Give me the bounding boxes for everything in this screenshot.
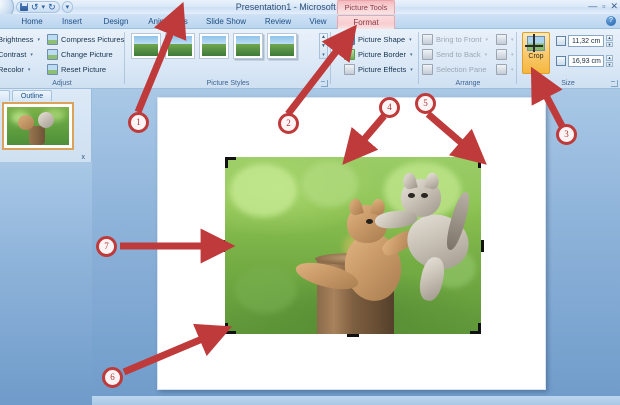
- picture-shape-button[interactable]: Picture Shape ▾: [344, 33, 412, 46]
- send-to-back-icon: [422, 49, 433, 60]
- scroll-up-icon[interactable]: ▲: [321, 34, 326, 40]
- chevron-down-icon: ▾: [37, 37, 40, 43]
- crop-icon: [527, 36, 545, 51]
- window-title: Presentation1 - Microsoft PowerPoint: [0, 0, 620, 14]
- panel-tabs: Outline: [0, 89, 92, 101]
- thumb-preview: [134, 36, 158, 56]
- group-divider: [516, 32, 517, 84]
- align-button[interactable]: ▾: [496, 33, 514, 46]
- stepper-down-icon[interactable]: ▼: [606, 42, 613, 48]
- slide-thumbnail[interactable]: [2, 102, 74, 150]
- chevron-down-icon: ▾: [409, 37, 412, 43]
- rotate-button[interactable]: ▾: [496, 63, 514, 76]
- tab-outline[interactable]: Outline: [12, 90, 52, 101]
- left-middle-crop-handle[interactable]: [222, 240, 225, 252]
- top-center-crop-handle[interactable]: [347, 154, 359, 157]
- maximize-button[interactable]: ▫: [602, 1, 605, 11]
- thumb-preview: [202, 36, 226, 56]
- height-value[interactable]: 11,32 cm: [568, 35, 604, 47]
- thumb-preview: [270, 36, 294, 56]
- picture-styles-dialog-launcher[interactable]: [321, 80, 328, 87]
- compress-pictures-icon: [47, 34, 58, 45]
- picture-style-menus: Picture Shape ▾ Picture Border ▾ Picture…: [344, 29, 418, 88]
- reset-picture-icon: [47, 64, 58, 75]
- picture-border-icon: [344, 49, 355, 60]
- picture-style-thumb[interactable]: [199, 33, 229, 59]
- height-icon: [556, 36, 566, 46]
- stepper-up-icon[interactable]: ▲: [606, 35, 613, 41]
- width-icon: [556, 56, 566, 66]
- window-controls: — ▫ ✕: [588, 1, 618, 11]
- group-divider: [418, 32, 419, 84]
- ribbon-group-adjust: Brightness ▾ Contrast ▾ Recolor ▾ Compre…: [0, 29, 124, 88]
- scroll-down-icon[interactable]: ▼: [321, 43, 326, 49]
- group-label-arrange: Arrange: [420, 80, 516, 87]
- contrast-button[interactable]: Contrast ▾: [0, 48, 33, 61]
- selection-pane-icon: [422, 64, 433, 75]
- picture-effects-icon: [344, 64, 355, 75]
- picture-tools-label: Picture Tools: [337, 0, 395, 14]
- picture-border-button[interactable]: Picture Border ▾: [344, 48, 412, 61]
- status-strip: [92, 396, 620, 405]
- picture-effects-button[interactable]: Picture Effects ▾: [344, 63, 413, 76]
- change-picture-button[interactable]: Change Picture: [47, 48, 113, 61]
- crop-button[interactable]: Crop: [522, 32, 550, 74]
- group-label-picture-styles: Picture Styles: [126, 80, 330, 87]
- change-picture-icon: [47, 49, 58, 60]
- ribbon-tabs: Home Insert Design Animations Slide Show…: [0, 14, 620, 29]
- group-button[interactable]: ▾: [496, 48, 514, 61]
- picture-style-thumb[interactable]: [131, 33, 161, 59]
- bring-to-front-icon: [422, 34, 433, 45]
- chevron-down-icon: ▾: [485, 52, 488, 58]
- gallery-more-icon[interactable]: ▾: [322, 52, 325, 58]
- workspace-left-fill: [0, 162, 92, 405]
- ribbon-group-picture-styles: ▲ ▼ ▾ Picture Styles: [126, 29, 330, 88]
- tab-review[interactable]: Review: [256, 15, 300, 29]
- close-button[interactable]: ✕: [610, 1, 618, 11]
- stepper-down-icon[interactable]: ▼: [606, 62, 613, 68]
- group-icon: [496, 49, 507, 60]
- group-label-size: Size: [538, 80, 598, 87]
- thumb-preview: [168, 36, 192, 56]
- size-dialog-launcher[interactable]: [611, 80, 618, 87]
- tab-slide-show[interactable]: Slide Show: [198, 15, 254, 29]
- tab-view[interactable]: View: [300, 15, 336, 29]
- chevron-down-icon: ▾: [30, 52, 33, 58]
- rotate-icon: [496, 64, 507, 75]
- powerpoint-window: ↺ ▾ ↻ ▾ Presentation1 - Microsoft PowerP…: [0, 0, 620, 405]
- group-label-adjust: Adjust: [0, 80, 124, 87]
- annotation-badge-5: 5: [415, 93, 436, 114]
- close-panel-icon[interactable]: x: [82, 154, 86, 161]
- bottom-center-crop-handle[interactable]: [347, 334, 359, 337]
- tab-home[interactable]: Home: [12, 15, 52, 29]
- thumb-preview: [236, 36, 260, 56]
- shape-width-field[interactable]: 16,93 cm ▲ ▼: [556, 55, 613, 67]
- compress-pictures-button[interactable]: Compress Pictures: [47, 33, 124, 46]
- tab-insert[interactable]: Insert: [52, 15, 92, 29]
- shape-height-field[interactable]: 11,32 cm ▲ ▼: [556, 35, 613, 47]
- tab-slides[interactable]: [0, 90, 10, 101]
- tab-animations[interactable]: Animations: [140, 15, 196, 29]
- help-icon[interactable]: ?: [606, 16, 616, 26]
- selected-picture[interactable]: [225, 157, 481, 334]
- group-divider: [124, 32, 125, 84]
- group-divider: [330, 32, 331, 84]
- title-bar: ↺ ▾ ↻ ▾ Presentation1 - Microsoft PowerP…: [0, 0, 620, 14]
- ribbon-group-arrange: Bring to Front ▾ Send to Back ▾ Selectio…: [420, 29, 516, 88]
- gallery-scrollbar[interactable]: ▲ ▼ ▾: [319, 33, 328, 59]
- ribbon: Brightness ▾ Contrast ▾ Recolor ▾ Compre…: [0, 29, 620, 89]
- chevron-down-icon: ▾: [511, 37, 514, 43]
- picture-kittens: [225, 157, 481, 334]
- align-icon: [496, 34, 507, 45]
- picture-styles-gallery[interactable]: [131, 33, 297, 59]
- chevron-down-icon: ▾: [511, 52, 514, 58]
- chevron-down-icon: ▾: [28, 67, 31, 73]
- width-stepper[interactable]: ▲ ▼: [606, 55, 613, 67]
- send-to-back-button[interactable]: Send to Back ▾: [422, 48, 487, 61]
- annotation-badge-1: 1: [128, 112, 149, 133]
- reset-picture-button[interactable]: Reset Picture: [47, 63, 106, 76]
- recolor-button[interactable]: Recolor ▾: [0, 63, 30, 76]
- height-stepper[interactable]: ▲ ▼: [606, 35, 613, 47]
- annotation-badge-7: 7: [96, 236, 117, 257]
- picture-style-thumb[interactable]: [165, 33, 195, 59]
- slides-outline-panel: Outline x: [0, 89, 92, 162]
- annotation-badge-2: 2: [278, 113, 299, 134]
- crop-button-label: Crop: [528, 53, 543, 60]
- ribbon-group-size: Crop 11,32 cm ▲ ▼ 16,93 cm ▲ ▼ Size: [518, 29, 620, 88]
- bring-to-front-button[interactable]: Bring to Front ▾: [422, 33, 488, 46]
- tab-design[interactable]: Design: [95, 15, 137, 29]
- annotation-badge-3: 3: [556, 124, 577, 145]
- chevron-down-icon: ▾: [410, 52, 413, 58]
- picture-shape-icon: [344, 34, 355, 45]
- annotation-badge-4: 4: [379, 97, 400, 118]
- chevron-down-icon: ▾: [410, 67, 413, 73]
- right-middle-crop-handle[interactable]: [481, 240, 484, 252]
- picture-style-thumb[interactable]: [267, 33, 297, 59]
- picture-style-thumb[interactable]: [233, 33, 263, 59]
- chevron-down-icon: ▾: [511, 67, 514, 73]
- chevron-down-icon: ▾: [485, 37, 488, 43]
- brightness-button[interactable]: Brightness ▾: [0, 33, 40, 46]
- slide-thumbnail-picture: [7, 107, 69, 145]
- width-value[interactable]: 16,93 cm: [568, 55, 604, 67]
- annotation-badge-6: 6: [102, 367, 123, 388]
- tab-format[interactable]: Format: [337, 15, 395, 29]
- minimize-button[interactable]: —: [588, 1, 597, 11]
- selection-pane-button[interactable]: Selection Pane: [422, 63, 486, 76]
- stepper-up-icon[interactable]: ▲: [606, 55, 613, 61]
